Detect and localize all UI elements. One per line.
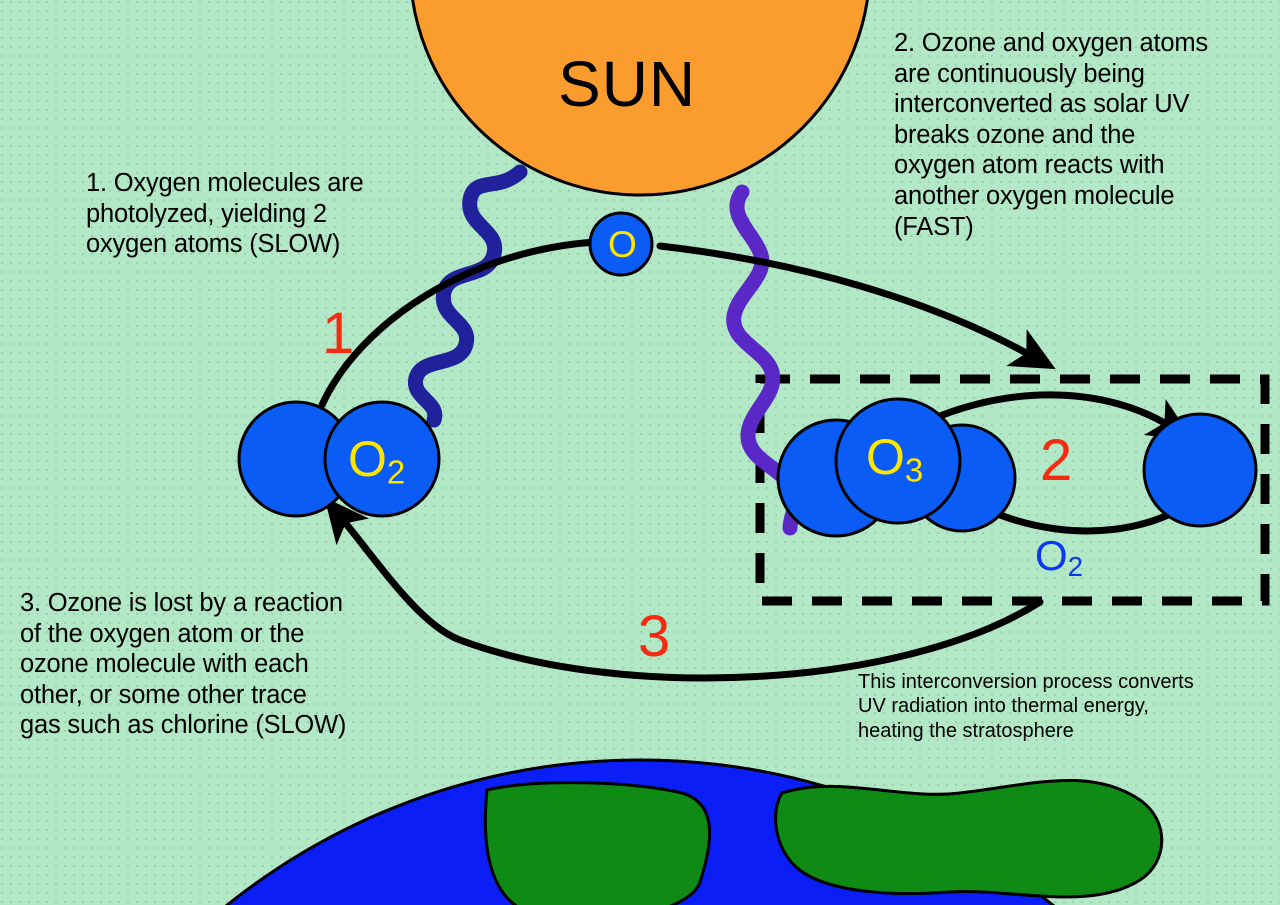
oxygen-atom-circle [325, 402, 439, 516]
step-number-2: 2 [1040, 432, 1072, 490]
earth-landmass-left [485, 783, 709, 905]
sun-label: SUN [558, 52, 696, 116]
oxygen-molecule-left [239, 402, 439, 516]
oxygen-molecule-right [1144, 414, 1256, 526]
oxygen-atom-circle [590, 213, 652, 275]
step-number-1: 1 [322, 305, 354, 363]
oxygen-atom [590, 213, 652, 275]
oxygen-atom-circle [1144, 414, 1256, 526]
ozone-molecule [778, 399, 1015, 536]
step-number-3: 3 [638, 608, 670, 666]
earth [0, 760, 1280, 905]
step1-description: 1. Oxygen molecules are photolyzed, yiel… [86, 168, 436, 260]
arrow-ozone-formation-icon [660, 246, 1030, 355]
arrow-interconvert-forward-icon [930, 395, 1168, 425]
step2-description: 2. Ozone and oxygen atoms are continuous… [894, 28, 1274, 242]
formula-text: O [1035, 532, 1068, 579]
step3-description: 3. Ozone is lost by a reaction of the ox… [20, 588, 420, 741]
formula-subscript: 2 [1068, 551, 1083, 582]
oxygen-atom-circle [836, 399, 960, 523]
oxygen-molecule-right-label: O2 [1035, 535, 1083, 581]
interconversion-caption: This interconversion process converts UV… [858, 670, 1270, 743]
ozone-cycle-diagram: SUN 1. Oxygen molecules are photolyzed, … [0, 0, 1280, 905]
earth-landmass-right [776, 780, 1162, 896]
